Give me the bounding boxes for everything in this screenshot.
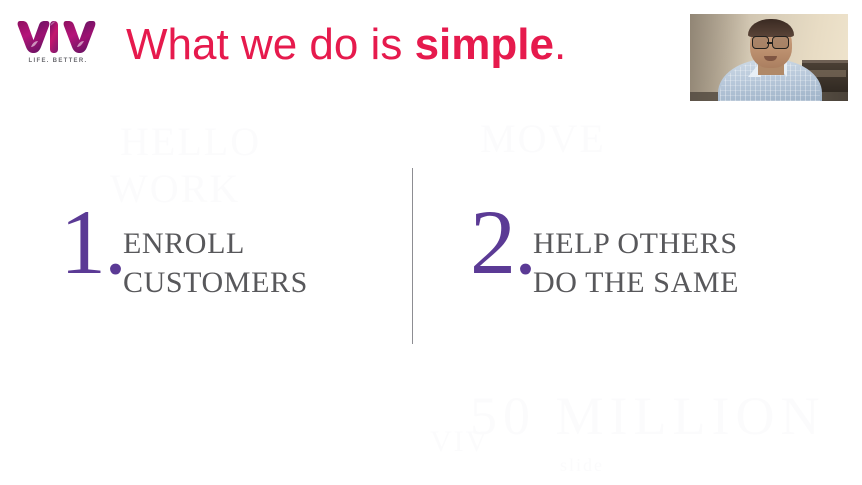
headline-normal-part: What we do is xyxy=(126,20,415,69)
step-label-line: HELP OTHERS xyxy=(533,224,739,263)
step-item-2: 2. HELP OTHERS DO THE SAME xyxy=(470,203,739,302)
ghost-text: VIV xyxy=(430,425,489,459)
presentation-slide: HELLO MOVE WORK 50 MILLION VIV slide xyxy=(0,0,862,485)
presenter-glasses-bridge xyxy=(767,42,772,44)
step-label: ENROLL CUSTOMERS xyxy=(123,224,308,302)
ghost-text: 50 MILLION xyxy=(470,385,825,447)
headline-period: . xyxy=(554,20,566,69)
ghost-text: HELLO xyxy=(120,118,261,165)
step-label-line: ENROLL xyxy=(123,224,308,263)
presenter-glasses-right-lens xyxy=(772,36,789,49)
step-number: 1. xyxy=(60,199,125,285)
viv-logo: LIFE. BETTER. xyxy=(16,17,100,73)
step-label-line: CUSTOMERS xyxy=(123,263,308,302)
step-number: 2. xyxy=(470,199,535,285)
logo-tagline: LIFE. BETTER. xyxy=(16,58,100,64)
step-item-1: 1. ENROLL CUSTOMERS xyxy=(60,203,308,302)
headline-bold-part: simple xyxy=(415,20,554,69)
ghost-text: MOVE xyxy=(480,115,606,162)
step-label-line: DO THE SAME xyxy=(533,263,739,302)
viv-logo-mark xyxy=(16,17,100,57)
vertical-divider xyxy=(412,168,413,344)
ghost-text: slide xyxy=(560,455,604,476)
presenter-video-feed[interactable] xyxy=(690,14,848,101)
slide-headline: What we do is simple. xyxy=(126,19,566,71)
video-scene xyxy=(690,14,848,101)
step-label: HELP OTHERS DO THE SAME xyxy=(533,224,739,302)
